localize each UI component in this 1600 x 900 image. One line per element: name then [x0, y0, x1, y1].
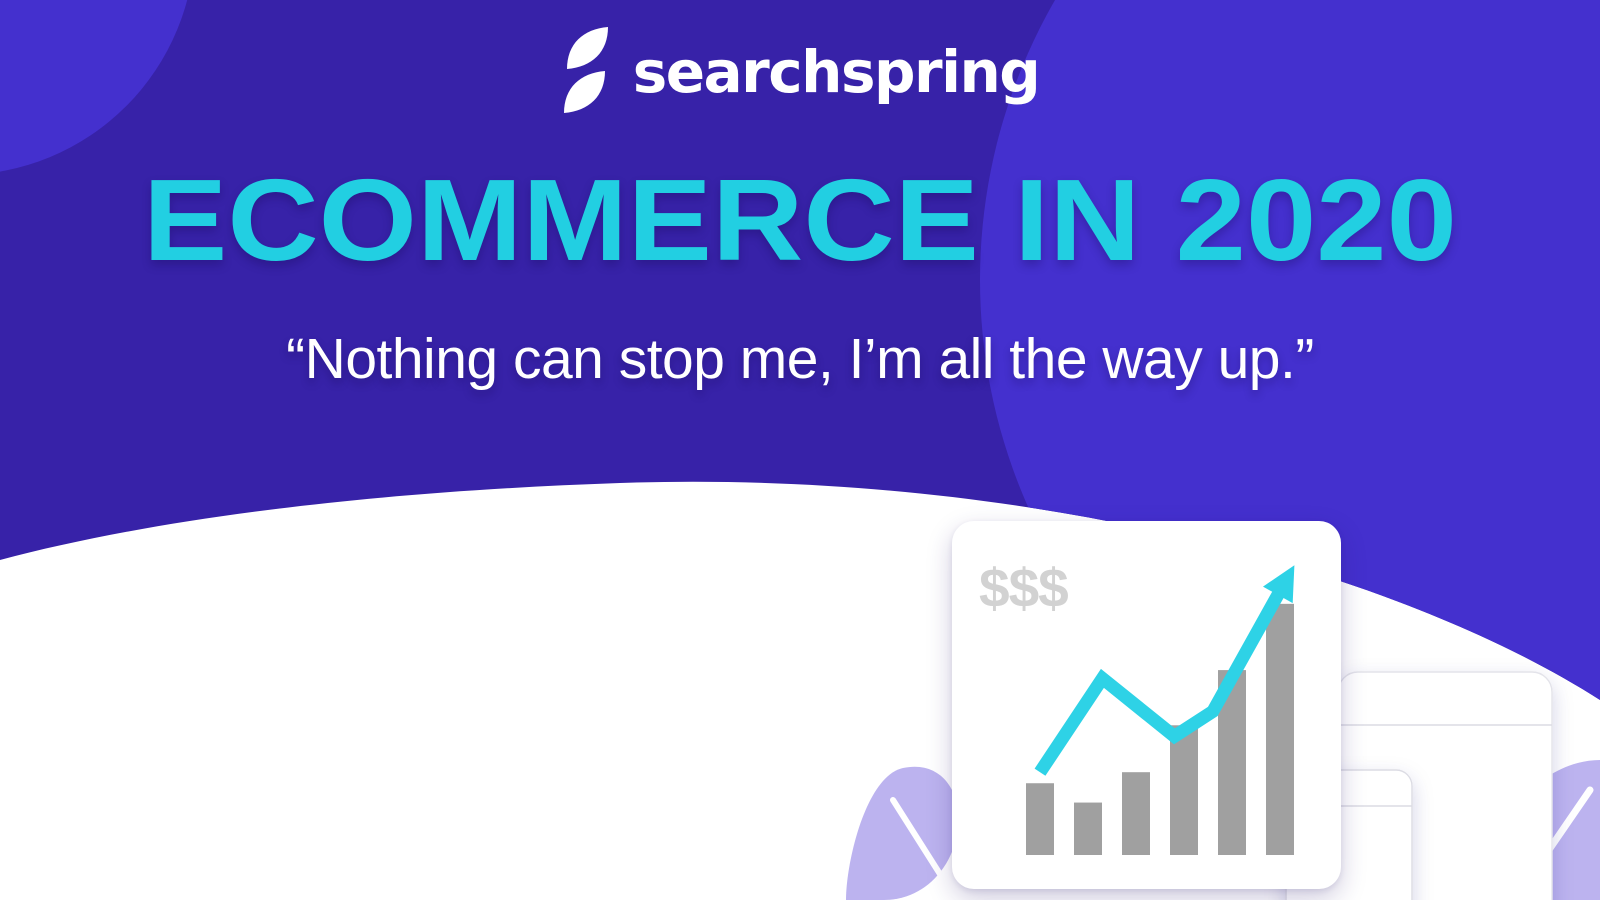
chart-bar — [1074, 803, 1102, 855]
background-art — [0, 0, 1600, 900]
searchspring-s-mark-icon — [561, 24, 611, 116]
upward-trend-arrow-icon — [1040, 565, 1294, 772]
brand-logo: searchspring — [0, 22, 1600, 118]
page-title: ECOMMERCE IN 2020 — [0, 162, 1600, 278]
brand-wordmark: searchspring — [633, 43, 1040, 101]
chart-bar — [1122, 772, 1150, 855]
chart-card: $$$ — [952, 521, 1341, 889]
growth-chart — [952, 521, 1341, 889]
page-subtitle: “Nothing can stop me, I’m all the way up… — [0, 328, 1600, 391]
infographic-canvas: searchspring ECOMMERCE IN 2020 “Nothing … — [0, 0, 1600, 900]
chart-bar — [1170, 725, 1198, 855]
chart-bar — [1266, 604, 1294, 855]
chart-bar — [1026, 783, 1054, 855]
